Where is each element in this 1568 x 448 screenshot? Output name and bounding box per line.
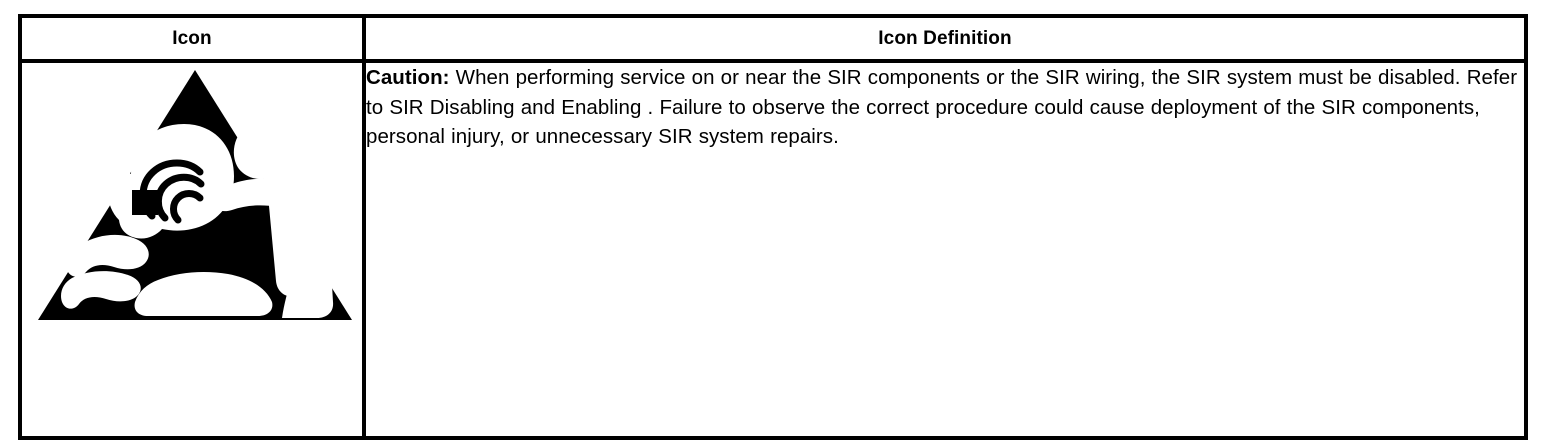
column-header-icon: Icon bbox=[20, 16, 364, 61]
caution-paragraph: Caution: When performing service on or n… bbox=[366, 63, 1524, 152]
table-body: Caution: When performing service on or n… bbox=[20, 61, 1526, 438]
icon-cell bbox=[20, 61, 364, 438]
sir-airbag-caution-triangle-icon bbox=[36, 66, 354, 324]
icon-definition-cell: Caution: When performing service on or n… bbox=[364, 61, 1526, 438]
caution-body: When performing service on or near the S… bbox=[366, 66, 1517, 148]
icon-definition-table: Icon Icon Definition bbox=[18, 14, 1528, 440]
table-header-row: Icon Icon Definition bbox=[20, 16, 1526, 61]
document-page: Icon Icon Definition bbox=[0, 0, 1568, 448]
column-header-icon-definition: Icon Definition bbox=[364, 16, 1526, 61]
table-row: Caution: When performing service on or n… bbox=[20, 61, 1526, 438]
caution-label: Caution: bbox=[366, 66, 450, 89]
table-header: Icon Icon Definition bbox=[20, 16, 1526, 61]
